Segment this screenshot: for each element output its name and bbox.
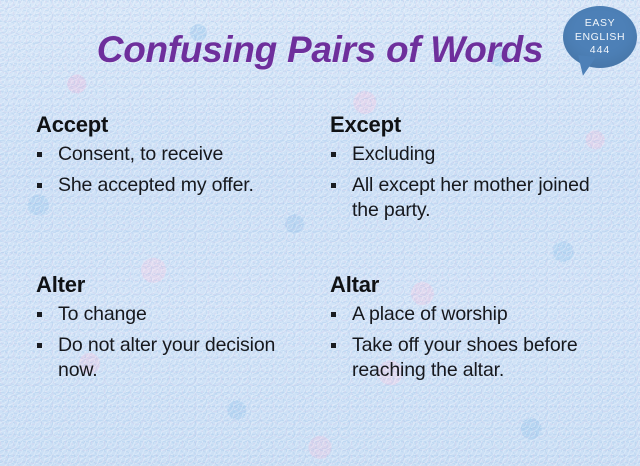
poster-content: Confusing Pairs of Words EASY ENGLISH 44… xyxy=(0,0,640,466)
badge-line-2: ENGLISH xyxy=(563,31,637,45)
list-item: To change xyxy=(36,302,316,327)
bullet-square-icon xyxy=(37,183,42,188)
list-item: Consent, to receive xyxy=(36,142,311,167)
bullet-square-icon xyxy=(331,312,336,317)
badge-text: EASY ENGLISH 444 xyxy=(563,17,637,58)
list-item: Do not alter your decision now. xyxy=(36,333,316,383)
word-heading: Except xyxy=(330,112,620,138)
word-heading: Altar xyxy=(330,272,625,298)
list-item-text: To change xyxy=(58,303,147,325)
list-item-text: Consent, to receive xyxy=(58,143,223,165)
bullet-square-icon xyxy=(37,343,42,348)
list-item-text: All except her mother joined the party. xyxy=(352,174,590,221)
bullet-square-icon xyxy=(37,152,42,157)
badge-line-3: 444 xyxy=(563,44,637,58)
easy-english-badge: EASY ENGLISH 444 xyxy=(563,6,637,74)
list-item: Excluding xyxy=(330,142,620,167)
definition-list: A place of worship Take off your shoes b… xyxy=(330,302,625,383)
poster-canvas: Confusing Pairs of Words EASY ENGLISH 44… xyxy=(0,0,640,466)
list-item-text: Excluding xyxy=(352,143,435,165)
definition-list: Excluding All except her mother joined t… xyxy=(330,142,620,223)
word-heading: Alter xyxy=(36,272,316,298)
definition-list: Consent, to receive She accepted my offe… xyxy=(36,142,311,198)
list-item: All except her mother joined the party. xyxy=(330,173,620,223)
word-block-except: Except Excluding All except her mother j… xyxy=(330,112,620,223)
definition-list: To change Do not alter your decision now… xyxy=(36,302,316,383)
bullet-square-icon xyxy=(331,183,336,188)
word-block-altar: Altar A place of worship Take off your s… xyxy=(330,272,625,383)
badge-line-1: EASY xyxy=(563,17,637,31)
list-item: Take off your shoes before reaching the … xyxy=(330,333,625,383)
list-item-text: A place of worship xyxy=(352,303,508,325)
list-item-text: Do not alter your decision now. xyxy=(58,334,275,381)
page-title: Confusing Pairs of Words xyxy=(0,28,640,72)
word-block-alter: Alter To change Do not alter your decisi… xyxy=(36,272,316,383)
list-item: A place of worship xyxy=(330,302,625,327)
bullet-square-icon xyxy=(331,152,336,157)
word-heading: Accept xyxy=(36,112,311,138)
list-item-text: She accepted my offer. xyxy=(58,174,254,196)
list-item: She accepted my offer. xyxy=(36,173,311,198)
speech-bubble-tail-icon xyxy=(576,55,596,77)
list-item-text: Take off your shoes before reaching the … xyxy=(352,334,578,381)
bullet-square-icon xyxy=(37,312,42,317)
bullet-square-icon xyxy=(331,343,336,348)
word-block-accept: Accept Consent, to receive She accepted … xyxy=(36,112,311,198)
